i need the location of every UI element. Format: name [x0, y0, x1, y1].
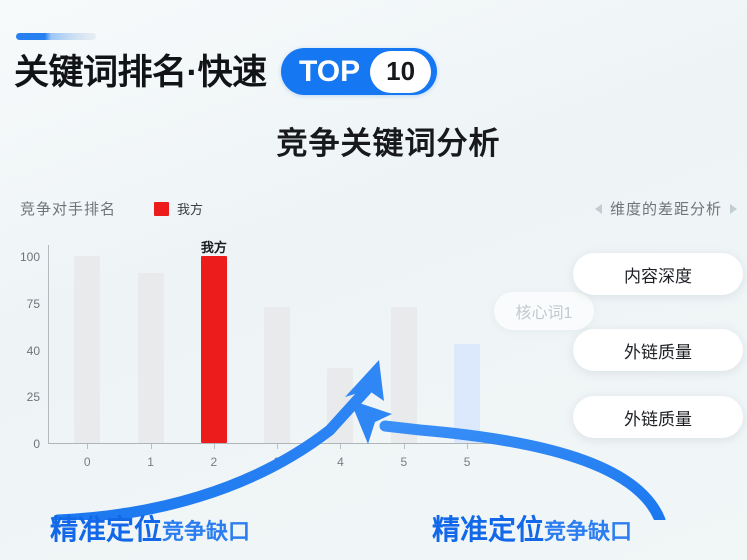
x-axis-tick [340, 444, 341, 449]
caption-strong: 精准定位 [50, 508, 162, 548]
page-title: 竞争关键词分析 [0, 118, 747, 163]
bar [454, 344, 480, 443]
x-axis-tick [214, 444, 215, 449]
y-axis-tick-label: 100 [4, 250, 40, 264]
bar [264, 307, 290, 444]
chart-title: 竞争对手排名 [20, 198, 116, 219]
right-panel-title: 维度的差距分析 [610, 198, 722, 219]
x-axis-line [48, 443, 526, 444]
x-axis-tick [277, 444, 278, 449]
x-axis-tick-label: 3 [274, 455, 281, 469]
highlight-bar-label: 我方 [201, 237, 227, 256]
y-axis-tick-label: 40 [4, 344, 40, 358]
caption-left: 精准定位 竞争缺口 [50, 508, 250, 548]
caption-strong: 精准定位 [432, 508, 544, 548]
x-axis-tick-label: 1 [147, 455, 154, 469]
top-badge-label: TOP [299, 57, 370, 87]
triangle-right-icon [730, 204, 737, 214]
y-axis-line [48, 245, 49, 444]
x-axis-tick-label: 5 [464, 455, 471, 469]
chart-legend: 我方 [154, 199, 203, 218]
x-axis-tick [404, 444, 405, 449]
x-axis-tick-label: 4 [337, 455, 344, 469]
y-axis: 1007540250 [0, 245, 40, 445]
dimension-card[interactable]: 外链质量 [573, 329, 743, 371]
highlight-bar [201, 256, 227, 443]
y-axis-tick-label: 25 [4, 390, 40, 404]
bar [138, 273, 164, 443]
caption-weak: 竞争缺口 [544, 514, 632, 546]
core-keyword-ghost-pill: 核心词1 [494, 292, 594, 330]
page-headline: 关键词排名·快速 [14, 55, 267, 90]
triangle-left-icon [595, 204, 602, 214]
y-axis-tick-label: 0 [4, 437, 40, 451]
dimension-card[interactable]: 内容深度 [573, 253, 743, 295]
x-axis-arrow-icon [525, 440, 533, 448]
bar [327, 368, 353, 443]
headline-row: 关键词排名·快速 [14, 44, 267, 100]
x-axis-tick-label: 5 [400, 455, 407, 469]
x-axis-tick-label: 0 [84, 455, 91, 469]
x-axis-tick [467, 444, 468, 449]
caption-weak: 竞争缺口 [162, 514, 250, 546]
x-axis-tick [87, 444, 88, 449]
right-panel-header: 维度的差距分析 [595, 198, 737, 219]
legend-swatch-icon [154, 202, 169, 216]
plot-area: 我方 0123455 [48, 257, 526, 444]
top-badge-count: 10 [370, 51, 431, 93]
y-axis-tick-label: 75 [4, 297, 40, 311]
chart-header: 竞争对手排名 我方 [20, 198, 203, 219]
progress-bar-icon [16, 33, 96, 40]
dimension-card[interactable]: 外链质量 [573, 396, 743, 438]
bar-chart: 1007540250 我方 0123455 [0, 245, 560, 480]
legend-label: 我方 [177, 199, 203, 218]
caption-right: 精准定位 竞争缺口 [432, 508, 632, 548]
bar [74, 256, 100, 443]
x-axis-tick-label: 2 [211, 455, 218, 469]
top-rank-badge: TOP 10 [281, 48, 437, 95]
x-axis-tick [151, 444, 152, 449]
bar [391, 307, 417, 444]
